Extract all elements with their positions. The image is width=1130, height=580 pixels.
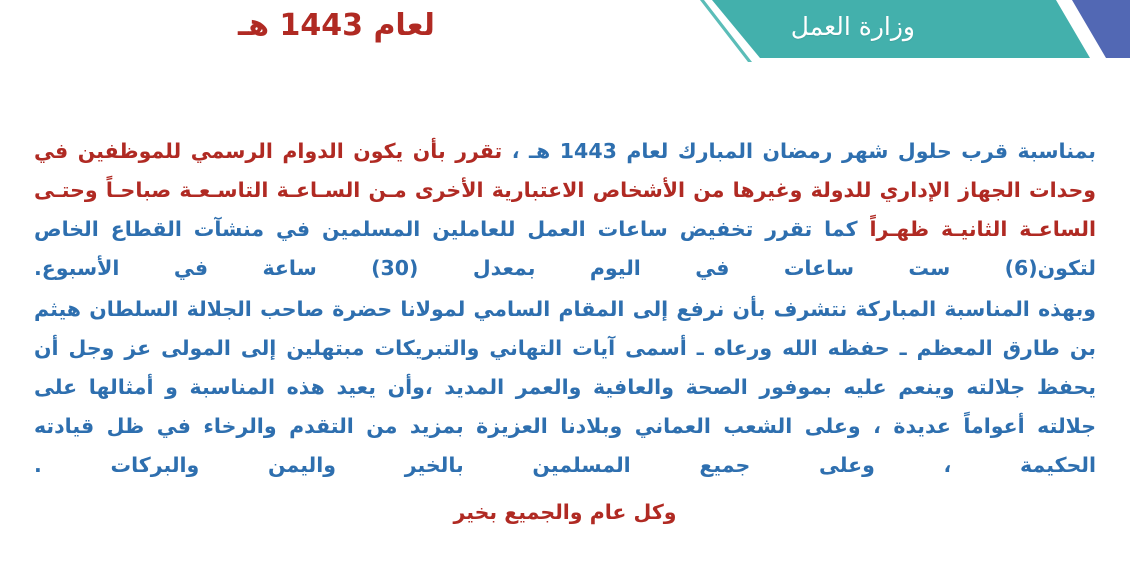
closing-greeting: وكل عام والجميع بخير (34, 495, 1096, 529)
header-teal-banner (0, 0, 1130, 58)
paragraph-decree: بمناسبة قرب حلول شهر رمضان المبارك لعام … (34, 132, 1096, 288)
announcement-page: وزارة العمل لعام 1443 هـ بمناسبة قرب حلو… (0, 0, 1130, 580)
page-header: وزارة العمل لعام 1443 هـ (0, 0, 1130, 64)
decree-intro-text: بمناسبة قرب حلول شهر رمضان المبارك لعام … (502, 139, 1096, 163)
ministry-logo: وزارة العمل (791, 4, 915, 50)
paragraph-greeting: وبهذه المناسبة المباركة نتشرف بأن نرفع إ… (34, 290, 1096, 485)
page-title: لعام 1443 هـ (238, 2, 435, 50)
announcement-body: بمناسبة قرب حلول شهر رمضان المبارك لعام … (0, 132, 1130, 529)
